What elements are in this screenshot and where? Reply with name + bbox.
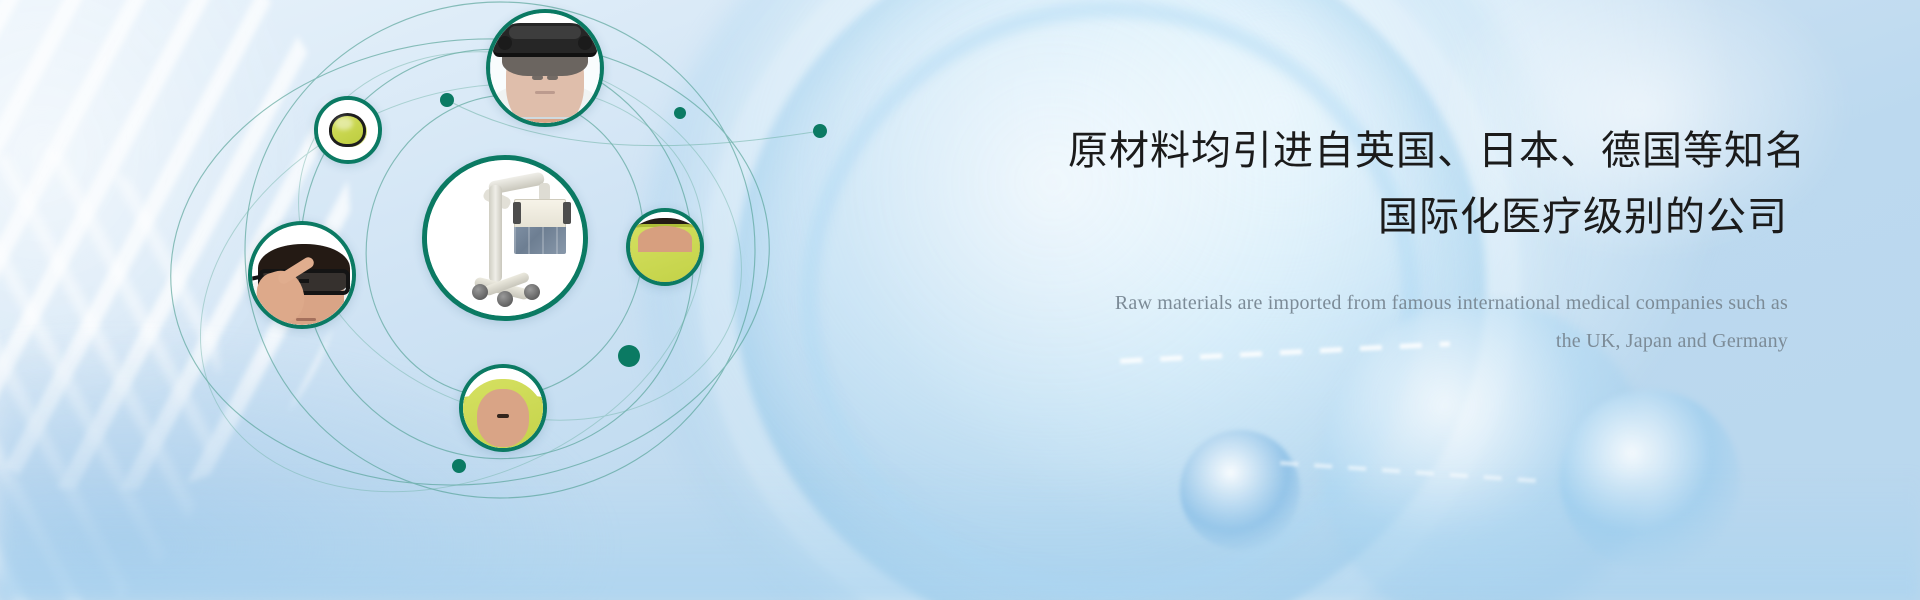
thumbnail-thyroid-collar[interactable] [626, 208, 704, 286]
orbit-dot [674, 107, 686, 119]
thumbnail-radiation-face-shield[interactable] [486, 9, 604, 127]
orbit-dot [452, 459, 466, 473]
hero-banner: 原材料均引进自英国、日本、德国等知名 国际化医疗级别的公司 Raw materi… [0, 0, 1920, 600]
orbit-dot [813, 124, 827, 138]
headline-line-2: 国际化医疗级别的公司 [1068, 184, 1788, 250]
thumbnail-lead-glasses[interactable] [248, 221, 356, 329]
lead-cap-image [318, 100, 378, 160]
banner-copy: 原材料均引进自英国、日本、德国等知名 国际化医疗级别的公司 Raw materi… [1068, 118, 1788, 360]
thyroid-collar-image [630, 212, 700, 282]
mobile-x-ray-shield-image [427, 160, 583, 316]
orbit-dot [440, 93, 454, 107]
radiation-face-shield-image [490, 13, 600, 123]
lead-glasses-image [252, 225, 352, 325]
thumbnail-lead-hood[interactable] [459, 364, 547, 452]
thumbnail-mobile-x-ray-shield[interactable] [422, 155, 588, 321]
headline-line-1: 原材料均引进自英国、日本、德国等知名 [1068, 118, 1788, 184]
lead-hood-image [463, 368, 543, 448]
orbit-diagram [0, 0, 900, 600]
thumbnail-lead-cap[interactable] [314, 96, 382, 164]
orbit-dot [618, 345, 640, 367]
subtitle-line-2: the UK, Japan and Germany [1068, 322, 1788, 360]
subtitle-line-1: Raw materials are imported from famous i… [1068, 284, 1788, 322]
